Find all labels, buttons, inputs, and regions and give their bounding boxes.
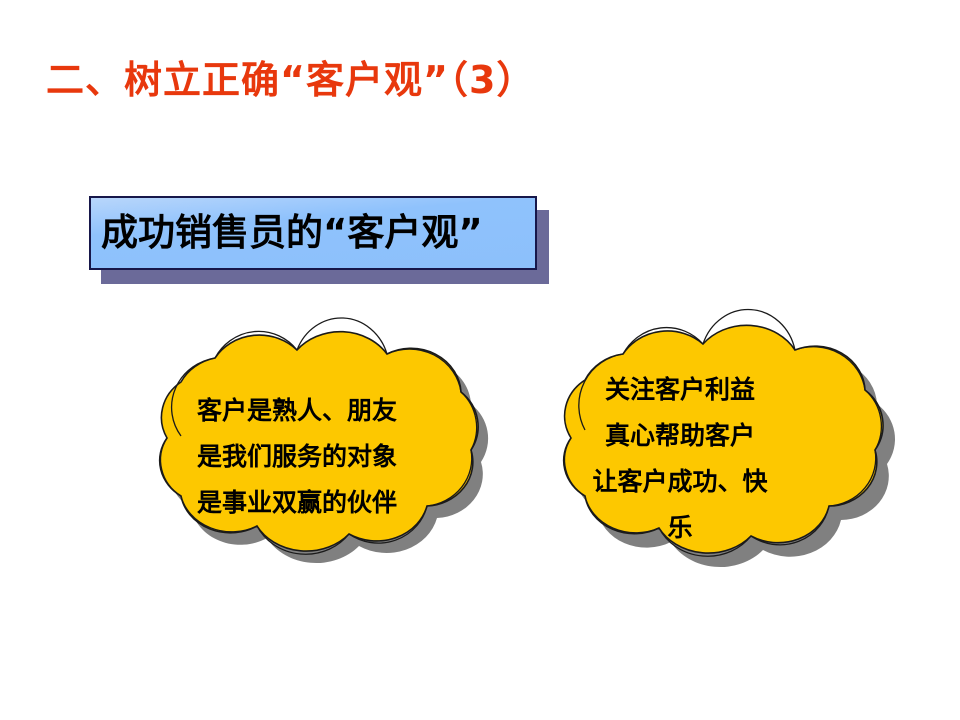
heading-box-group: 成功销售员的“客户观” [89,196,551,284]
slide-canvas: 二、树立正确“客户观”（3） 成功销售员的“客户观” [0,0,960,720]
cloud-right: 关注客户利益 真心帮助客户 让客户成功、快 乐 [505,334,905,602]
cloud-left: 客户是熟人、朋友 是我们服务的对象 是事业双赢的伙伴 [95,340,505,602]
cloud-right-label: 关注客户利益 真心帮助客户 让客户成功、快 乐 [560,367,800,551]
heading-box-label: 成功销售员的“客户观” [101,211,533,255]
cloud-left-label: 客户是熟人、朋友 是我们服务的对象 是事业双赢的伙伴 [147,388,447,526]
heading-box: 成功销售员的“客户观” [89,196,537,270]
page-title: 二、树立正确“客户观”（3） [46,57,746,107]
